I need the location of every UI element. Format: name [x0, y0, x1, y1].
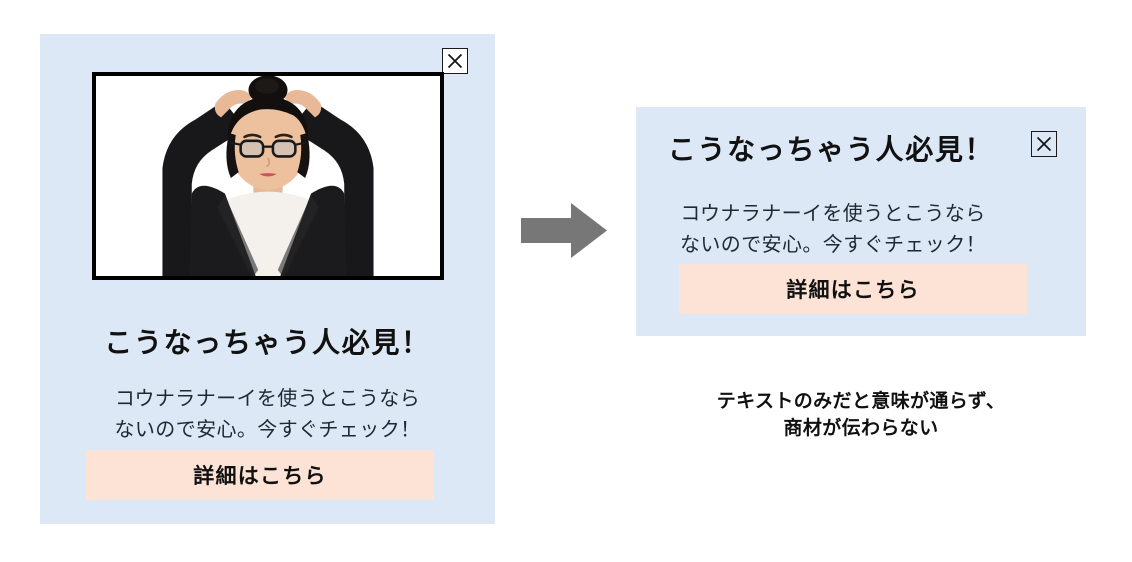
- cta-button[interactable]: 詳細はこちら: [679, 264, 1027, 314]
- arrow-right-icon: [521, 203, 607, 258]
- ad-creative-text-only: こうなっちゃう人必見！ コウナラナーイを使うとこうなら ないので安心。今すぐチェ…: [636, 107, 1086, 336]
- ad-headline: こうなっちゃう人必見！: [40, 326, 495, 360]
- cta-button[interactable]: 詳細はこちら: [86, 450, 434, 500]
- close-icon[interactable]: [1031, 131, 1057, 157]
- ad-creative-with-image: こうなっちゃう人必見！ コウナラナーイを使うとこうなら ないので安心。今すぐチェ…: [40, 34, 495, 524]
- close-icon[interactable]: [442, 48, 468, 74]
- ad-body-line-1: コウナラナーイを使うとこうなら: [658, 199, 1008, 230]
- ad-body-line-2: ないので安心。今すぐチェック！: [68, 415, 467, 446]
- comparison-figure: こうなっちゃう人必見！ コウナラナーイを使うとこうなら ないので安心。今すぐチェ…: [0, 0, 1132, 562]
- caption-line-2: 商材が伝わらない: [636, 415, 1086, 442]
- ad-body-line-1: コウナラナーイを使うとこうなら: [68, 384, 467, 415]
- ad-headline: こうなっちゃう人必見！: [656, 132, 1006, 168]
- ad-body-copy: コウナラナーイを使うとこうなら ないので安心。今すぐチェック！: [68, 384, 467, 446]
- caption-line-1: テキストのみだと意味が通らず、: [636, 388, 1086, 415]
- ad-image: [92, 72, 444, 280]
- caption: テキストのみだと意味が通らず、 商材が伝わらない: [636, 388, 1086, 442]
- ad-body-line-2: ないので安心。今すぐチェック！: [658, 230, 1008, 261]
- ad-body-copy: コウナラナーイを使うとこうなら ないので安心。今すぐチェック！: [658, 199, 1008, 261]
